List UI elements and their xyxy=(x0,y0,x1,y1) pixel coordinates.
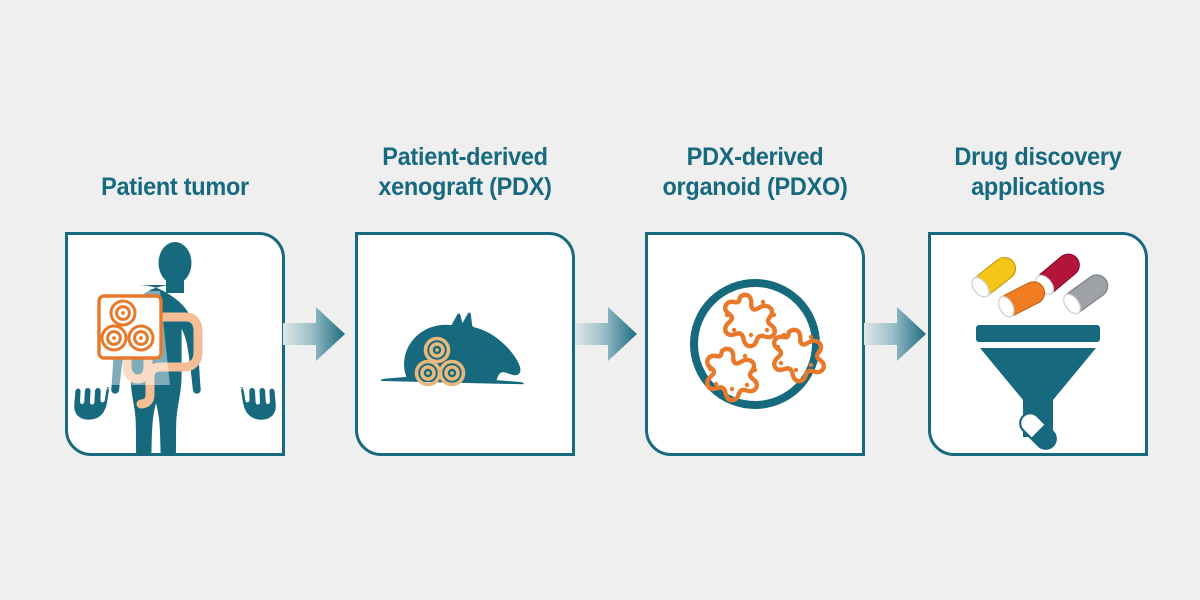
step-card-pdx[interactable] xyxy=(355,232,575,456)
workflow-step-pdxo: PDX-derived organoid (PDXO) xyxy=(625,0,885,600)
flow-arrow-2 xyxy=(575,305,637,363)
step-title-pdxo: PDX-derived organoid (PDXO) xyxy=(633,142,877,202)
diagram-canvas: Patient tumor xyxy=(0,0,1200,600)
workflow-step-patient-tumor: Patient tumor xyxy=(45,0,305,600)
step-title-patient-tumor: Patient tumor xyxy=(53,172,297,202)
capsule-output-teal xyxy=(1016,409,1060,453)
step-title-drug-discovery: Drug discovery applications xyxy=(916,142,1160,202)
step-card-patient-tumor[interactable] xyxy=(65,232,285,456)
step-card-drug-discovery[interactable] xyxy=(928,232,1148,456)
workflow-step-pdx: Patient-derived xenograft (PDX) xyxy=(335,0,595,600)
organoid-dish-icon xyxy=(648,235,862,453)
workflow-step-drug-discovery: Drug discovery applications xyxy=(908,0,1168,600)
flow-arrow-3 xyxy=(864,305,926,363)
human-body-with-colon-tumor-icon xyxy=(68,235,282,453)
mouse-with-tumor-icon xyxy=(358,235,572,453)
step-card-pdxo[interactable] xyxy=(645,232,865,456)
capsule-orange xyxy=(996,278,1049,319)
tumor-cell-inset xyxy=(99,296,161,358)
flow-arrow-1 xyxy=(283,305,345,363)
step-title-pdx: Patient-derived xenograft (PDX) xyxy=(343,142,587,202)
funnel-with-pills-icon xyxy=(931,235,1145,453)
